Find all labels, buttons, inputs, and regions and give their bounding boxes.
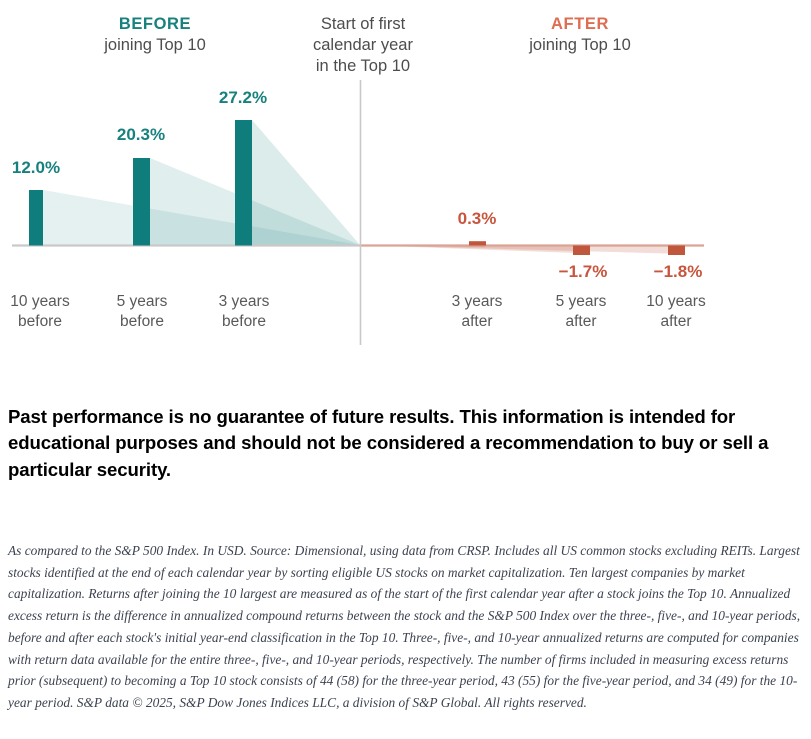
chart-container: BEFORE joining Top 10 Start of first cal… — [0, 0, 811, 380]
value-label-3y-after: 0.3% — [441, 209, 513, 229]
section-heading-after: AFTER joining Top 10 — [455, 14, 705, 56]
value-label-10y-before: 12.0% — [0, 158, 72, 178]
section-heading-before: BEFORE joining Top 10 — [30, 14, 280, 56]
section-heading-after-kicker: AFTER — [455, 14, 705, 35]
tick-label-5y-before-line1: 5 years — [117, 293, 168, 310]
value-label-10y-after: −1.8% — [640, 262, 716, 282]
fade-triangle-3y-before — [252, 120, 360, 245]
tick-label-5y-after-line1: 5 years — [556, 293, 607, 310]
bar-3y-before — [235, 120, 252, 246]
tick-label-10y-before-line2: before — [18, 313, 62, 330]
tick-label-10y-after-line2: after — [660, 313, 691, 330]
tick-label-3y-after-line1: 3 years — [452, 293, 503, 310]
value-label-5y-before: 20.3% — [105, 125, 177, 145]
tick-label-5y-before-line2: before — [120, 313, 164, 330]
section-heading-before-sub: joining Top 10 — [30, 35, 280, 56]
tick-label-3y-before-line1: 3 years — [219, 293, 270, 310]
tick-label-5y-after-line2: after — [565, 313, 596, 330]
section-heading-center: Start of first calendar year in the Top … — [290, 14, 436, 77]
tick-label-3y-after: 3 years after — [437, 292, 517, 332]
value-label-5y-after: −1.7% — [545, 262, 621, 282]
bar-5y-after — [573, 246, 590, 256]
tick-label-10y-after-line1: 10 years — [646, 293, 705, 310]
tick-label-5y-before: 5 years before — [102, 292, 182, 332]
section-heading-after-sub: joining Top 10 — [455, 35, 705, 56]
tick-label-3y-after-line2: after — [461, 313, 492, 330]
tick-label-10y-after: 10 years after — [636, 292, 716, 332]
bar-10y-after — [668, 246, 685, 256]
tick-label-10y-before-line1: 10 years — [10, 293, 69, 310]
tick-label-3y-before-line2: before — [222, 313, 266, 330]
bar-3y-after — [469, 241, 486, 245]
section-heading-center-line1: Start of first — [290, 14, 436, 35]
tick-label-3y-before: 3 years before — [204, 292, 284, 332]
bar-10y-before — [29, 190, 43, 246]
tick-label-10y-before: 10 years before — [0, 292, 80, 332]
tick-label-5y-after: 5 years after — [541, 292, 621, 332]
bar-5y-before — [133, 158, 150, 246]
disclaimer-text: Past performance is no guarantee of futu… — [8, 404, 803, 483]
section-heading-center-line3: in the Top 10 — [290, 56, 436, 77]
footnote-text: As compared to the S&P 500 Index. In USD… — [8, 540, 808, 714]
section-heading-before-kicker: BEFORE — [30, 14, 280, 35]
value-label-3y-before: 27.2% — [207, 88, 279, 108]
section-heading-center-line2: calendar year — [290, 35, 436, 56]
